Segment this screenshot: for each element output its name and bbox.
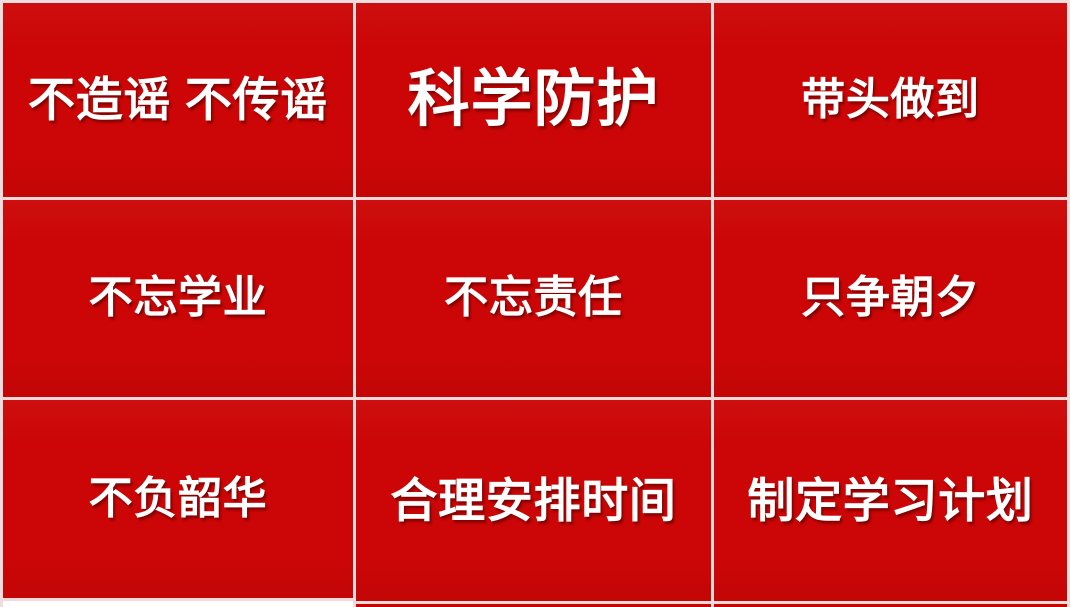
slogan-text-r1c2: 科学防护 bbox=[408, 67, 660, 132]
gridline-left-edge bbox=[0, 0, 3, 607]
slogan-text-r1c1: 不造谣 不传谣 bbox=[28, 75, 328, 124]
slogan-cell-r1c1: 不造谣 不传谣 bbox=[3, 3, 353, 197]
slogan-cell-r3c1: 不负韶华 bbox=[3, 400, 353, 598]
slogan-cell-r3c3: 制定学习计划 bbox=[714, 400, 1067, 601]
gridline-bottom-center bbox=[356, 601, 711, 604]
gridline-column-2 bbox=[711, 0, 714, 607]
gridline-column-1 bbox=[353, 0, 356, 607]
slogan-cell-r1c3: 带头做到 bbox=[714, 3, 1067, 197]
slogan-poster: 不造谣 不传谣 科学防护 带头做到 不忘学业 不忘责任 只争朝夕 不负韶华 合理… bbox=[0, 0, 1070, 607]
slogan-text-r3c3: 制定学习计划 bbox=[747, 476, 1033, 525]
slogan-cell-r2c1: 不忘学业 bbox=[3, 200, 353, 397]
slogan-text-r2c1: 不忘学业 bbox=[89, 275, 268, 321]
slogan-text-r3c2: 合理安排时间 bbox=[390, 476, 676, 525]
slogan-cell-r2c2: 不忘责任 bbox=[356, 200, 711, 397]
gridline-bottom-right bbox=[714, 601, 1067, 604]
slogan-text-r2c3: 只争朝夕 bbox=[801, 275, 980, 321]
gridline-row-2 bbox=[0, 397, 1070, 400]
gridline-row-1 bbox=[0, 197, 1070, 200]
slogan-text-r2c2: 不忘责任 bbox=[444, 275, 623, 321]
slogan-text-r3c1: 不负韶华 bbox=[89, 476, 268, 522]
slogan-cell-r2c3: 只争朝夕 bbox=[714, 200, 1067, 397]
slogan-text-r1c3: 带头做到 bbox=[801, 77, 980, 123]
slogan-cell-r3c2: 合理安排时间 bbox=[356, 400, 711, 601]
slogan-cell-r1c2: 科学防护 bbox=[356, 3, 711, 197]
gridline-top-edge bbox=[0, 0, 1070, 3]
gridline-bottom-left bbox=[0, 598, 353, 601]
